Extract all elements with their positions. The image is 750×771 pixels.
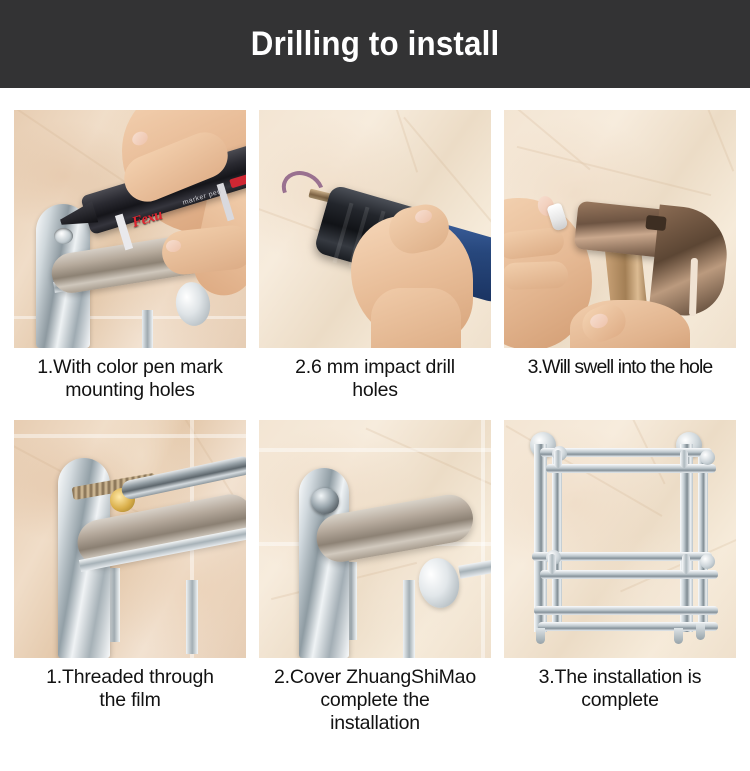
step-cell-1: Fexu marker pen 1.With color pen mark mo… <box>14 110 246 402</box>
photo-screw-threaded-through-bracket <box>14 420 246 658</box>
mounting-hole <box>54 228 73 244</box>
header-bar: Drilling to install <box>0 0 750 88</box>
tile-seam <box>14 434 246 438</box>
rack-leg <box>142 310 153 348</box>
step-cell-5: 2.Cover ZhuangShiMao complete the instal… <box>259 420 491 735</box>
steps-row-top: Fexu marker pen 1.With color pen mark mo… <box>14 110 737 402</box>
step-caption: 1.With color pen mark mounting holes <box>14 356 246 402</box>
rack-leg <box>186 580 198 654</box>
step-cell-6: 3.The installation is complete <box>504 420 736 735</box>
rail-knob <box>700 554 715 569</box>
top-shelf-rail <box>546 464 716 473</box>
towel-bar <box>534 606 718 615</box>
towel-hook <box>536 628 545 644</box>
photo-drilling-holes-with-impact-drill <box>259 110 491 348</box>
tile-seam <box>259 448 491 452</box>
step-caption: 1.Threaded through the film <box>14 666 246 712</box>
rack-post-left-inner <box>552 450 562 628</box>
installation-guide-page: Drilling to install <box>0 0 750 771</box>
middle-shelf-upright <box>548 554 556 574</box>
step-caption: 3.The installation is complete <box>504 666 736 712</box>
middle-shelf-rail <box>540 570 718 579</box>
decorative-cap-cover <box>311 488 339 514</box>
forearm <box>371 288 461 348</box>
photo-decorative-cap-cover-installed <box>259 420 491 658</box>
photo-finished-double-tier-rack <box>504 420 736 658</box>
photo-marking-holes-with-marker-pen: Fexu marker pen <box>14 110 246 348</box>
rack-post-right-inner <box>698 450 708 628</box>
hammer-eye <box>645 215 666 231</box>
steps-grid: Fexu marker pen 1.With color pen mark mo… <box>14 110 737 735</box>
steps-row-bottom: 1.Threaded through the film <box>14 420 737 735</box>
step-cell-4: 1.Threaded through the film <box>14 420 246 735</box>
rack-post-left <box>534 444 547 632</box>
top-shelf-upright <box>554 450 562 468</box>
step-caption: 2.6 mm impact drill holes <box>259 356 491 402</box>
towel-hook <box>674 628 683 644</box>
towel-bar <box>538 622 718 631</box>
step-caption: 2.Cover ZhuangShiMao complete the instal… <box>259 666 491 735</box>
step-caption: 3.Will swell into the hole <box>504 356 736 379</box>
rail-knob <box>700 450 715 465</box>
photo-inserting-wall-anchor-with-hammer <box>504 110 736 348</box>
page-title: Drilling to install <box>251 25 500 64</box>
rack-leg <box>403 580 415 658</box>
tile-seam <box>481 420 485 658</box>
middle-shelf-upright <box>682 554 690 574</box>
step-cell-3: 3.Will swell into the hole <box>504 110 736 402</box>
top-shelf-upright <box>680 450 688 468</box>
finger <box>504 261 568 290</box>
towel-hook <box>696 624 705 640</box>
step-cell-2: 2.6 mm impact drill holes <box>259 110 491 402</box>
